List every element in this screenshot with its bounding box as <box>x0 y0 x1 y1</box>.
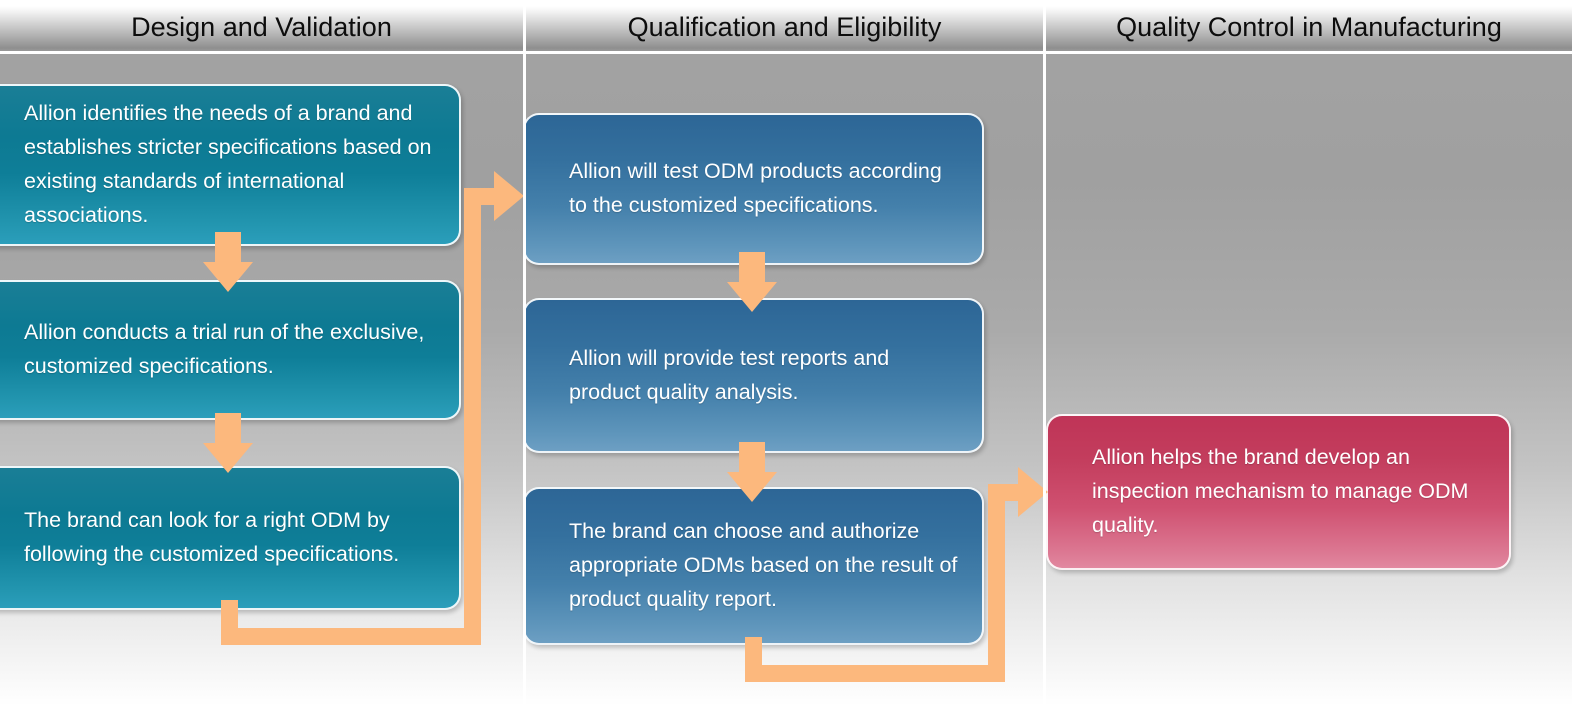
connector-col1-1-2-shaft <box>215 232 241 264</box>
step-text-col1-2: Allion conducts a trial run of the exclu… <box>0 316 459 384</box>
step-box-col2-1[interactable]: Allion will test ODM products according … <box>523 113 984 265</box>
step-box-col1-2[interactable]: Allion conducts a trial run of the exclu… <box>0 280 461 420</box>
step-box-col2-3[interactable]: The brand can choose and authorize appro… <box>523 487 984 645</box>
column-header-design-and-validation: Design and Validation <box>0 0 523 54</box>
step-box-col3-1[interactable]: Allion helps the brand develop an inspec… <box>1046 414 1511 570</box>
step-box-col1-3[interactable]: The brand can look for a right ODM by fo… <box>0 466 461 610</box>
connector-col2-to-col3-horizontal <box>745 665 1005 682</box>
connector-col2-to-col3-vertical-riser <box>988 484 1005 676</box>
column-header-quality-control-in-manufacturing: Quality Control in Manufacturing <box>1046 0 1572 54</box>
connector-col1-1-2-arrowhead <box>203 262 253 292</box>
connector-col1-to-col2-horizontal-top <box>464 188 496 205</box>
column-background-3 <box>1046 0 1572 706</box>
connector-col1-2-3-arrowhead <box>203 443 253 473</box>
step-text-col1-3: The brand can look for a right ODM by fo… <box>0 504 459 572</box>
step-box-col1-1[interactable]: Allion identifies the needs of a brand a… <box>0 84 461 246</box>
connector-col2-2-3-shaft <box>739 442 765 474</box>
connector-col1-to-col2-horizontal <box>221 628 481 645</box>
step-text-col2-3: The brand can choose and authorize appro… <box>525 515 982 617</box>
connector-col1-to-col2-arrowhead <box>494 171 524 221</box>
column-header-qualification-and-eligibility: Qualification and Eligibility <box>526 0 1043 54</box>
step-box-col2-2[interactable]: Allion will provide test reports and pro… <box>523 298 984 453</box>
step-text-col1-1: Allion identifies the needs of a brand a… <box>0 97 459 233</box>
connector-col2-1-2-shaft <box>739 252 765 284</box>
column-separator-1 <box>523 0 526 706</box>
connector-col1-2-3-shaft <box>215 413 241 445</box>
step-text-col2-2: Allion will provide test reports and pro… <box>525 342 982 410</box>
connector-col2-to-col3-horizontal-top <box>988 484 1020 501</box>
connector-col2-1-2-arrowhead <box>727 282 777 312</box>
step-text-col3-1: Allion helps the brand develop an inspec… <box>1048 441 1509 543</box>
column-separator-2 <box>1043 0 1046 706</box>
step-text-col2-1: Allion will test ODM products according … <box>525 155 982 223</box>
connector-col1-to-col2-vertical-riser <box>464 188 481 638</box>
process-flow-diagram: Design and Validation Qualification and … <box>0 0 1572 706</box>
connector-col2-2-3-arrowhead <box>727 472 777 502</box>
